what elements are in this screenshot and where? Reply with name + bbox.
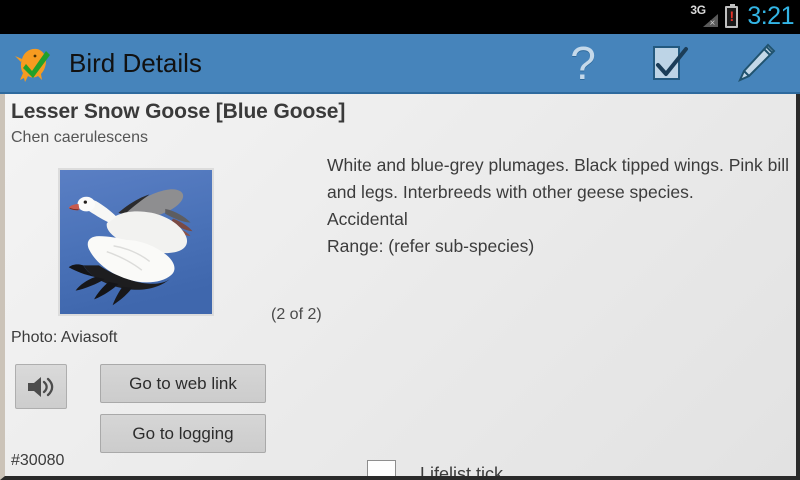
photo-credit: Photo: Aviasoft [11, 329, 117, 347]
battery-alert-icon: ! [725, 6, 738, 28]
bird-scientific-name: Chen caerulescens [11, 129, 148, 147]
help-question-mark: ? [570, 40, 596, 86]
lifelist-tick-label: Lifelist tick [420, 464, 503, 480]
go-to-web-link-button[interactable]: Go to web link [100, 364, 266, 403]
checklist-icon[interactable] [640, 37, 698, 89]
bird-check-logo-icon [9, 40, 55, 86]
play-sound-button[interactable] [15, 364, 67, 409]
device-screen: 3G × ! 3:21 Bird Details ? [0, 0, 800, 480]
signal-x-mark: × [709, 19, 715, 29]
help-icon[interactable]: ? [554, 37, 612, 89]
bird-details-content: Lesser Snow Goose [Blue Goose] Chen caer… [0, 94, 800, 480]
bird-photo[interactable] [58, 168, 214, 316]
battery-exclamation-mark: ! [727, 9, 736, 24]
status-bar: 3G × ! 3:21 [0, 0, 800, 34]
page-title: Bird Details [69, 48, 202, 79]
bird-status-line: Accidental [327, 206, 795, 233]
status-bar-indicators: 3G × ! 3:21 [690, 4, 794, 31]
bird-common-name: Lesser Snow Goose [Blue Goose] [11, 100, 345, 124]
record-id: #30080 [11, 452, 64, 470]
action-bar: Bird Details ? [0, 34, 800, 94]
signal-no-service-icon: 3G × [690, 5, 718, 29]
lifelist-tick-checkbox[interactable] [367, 460, 396, 480]
status-bar-clock: 3:21 [745, 4, 794, 31]
bird-description-paragraph: White and blue-grey plumages. Black tipp… [327, 152, 795, 206]
bird-description: White and blue-grey plumages. Black tipp… [327, 152, 795, 260]
go-to-logging-button[interactable]: Go to logging [100, 414, 266, 453]
edit-pencil-icon[interactable] [726, 37, 784, 89]
speaker-icon [24, 372, 58, 402]
lifelist-tick-row[interactable]: Lifelist tick [367, 460, 503, 480]
page-counter: (2 of 2) [271, 306, 322, 324]
bird-range-line: Range: (refer sub-species) [327, 233, 795, 260]
